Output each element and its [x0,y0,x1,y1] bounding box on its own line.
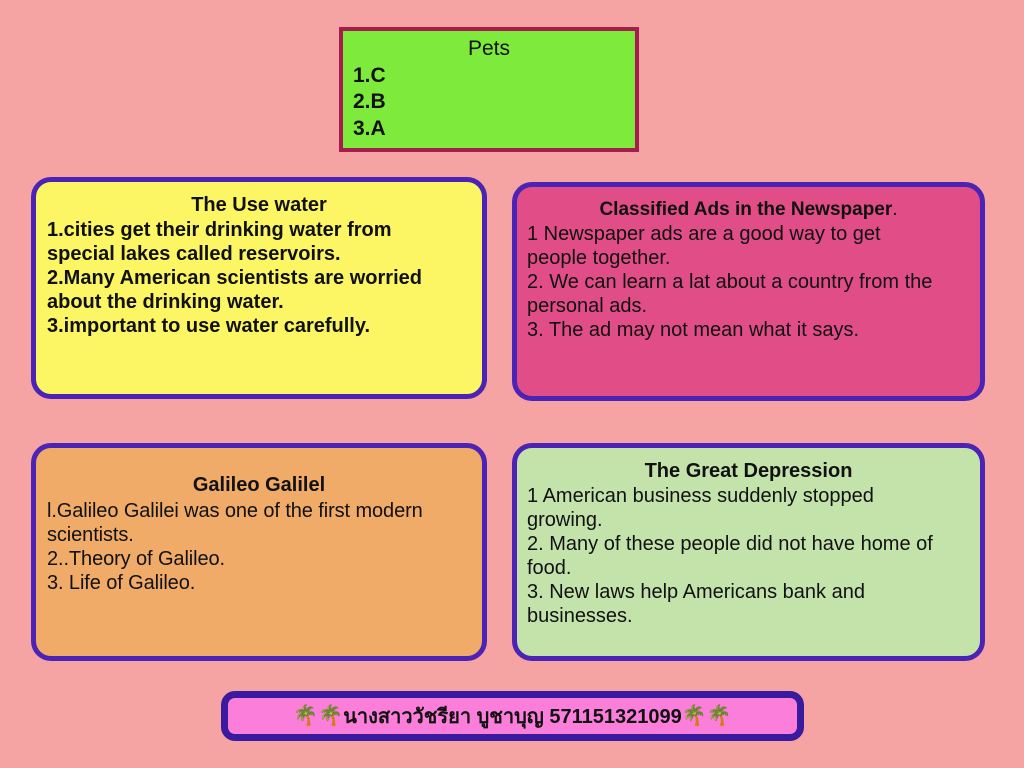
card-use-water-title: The Use water [47,194,471,217]
card-galileo-line-1: l.Galileo Galilei was one of the first m… [47,499,471,523]
card-pets-line-1: 1.C [353,63,625,88]
card-use-water-line-4: about the drinking water. [47,290,471,314]
card-galileo-line-3: 2..Theory of Galileo. [47,547,471,571]
card-classified-ads-line-2: people together. [527,246,970,270]
card-great-depression-line-4: food. [527,556,970,580]
card-classified-ads-line-3: 2. We can learn a lat about a country fr… [527,270,970,294]
card-classified-ads-title: Classified Ads in the Newspaper. [527,199,970,221]
card-classified-ads-line-1: 1 Newspaper ads are a good way to get [527,222,970,246]
card-use-water-line-1: 1.cities get their drinking water from [47,218,471,242]
card-pets-title: Pets [353,37,625,61]
card-great-depression-line-2: growing. [527,508,970,532]
card-galileo-title: Galileo Galilel [47,474,471,497]
card-great-depression-line-5: 3. New laws help Americans bank and [527,580,970,604]
card-use-water-line-3: 2.Many American scientists are worried [47,266,471,290]
slide-canvas: Pets 1.C 2.B 3.A The Use water 1.cities … [0,0,1024,768]
card-great-depression-line-1: 1 American business suddenly stopped [527,484,970,508]
card-great-depression-title: The Great Depression [527,460,970,483]
card-use-water-line-5: 3.important to use water carefully. [47,314,471,338]
card-classified-ads-title-text: Classified Ads in the Newspaper [599,199,892,220]
card-classified-ads-line-4: personal ads. [527,294,970,318]
card-great-depression: The Great Depression 1 American business… [512,443,985,661]
card-pets: Pets 1.C 2.B 3.A [339,27,639,152]
card-classified-ads-title-period: . [892,199,897,220]
footer-banner: 🌴🌴นางสาววัชรียา บูชาบุญ 571151321099🌴🌴 [221,691,804,741]
palm-tree-icon-left: 🌴🌴 [293,706,343,726]
card-pets-line-2: 2.B [353,89,625,114]
card-pets-line-3: 3.A [353,116,625,141]
card-classified-ads-line-5: 3. The ad may not mean what it says. [527,318,970,342]
card-use-water-line-2: special lakes called reservoirs. [47,242,471,266]
card-classified-ads: Classified Ads in the Newspaper. 1 Newsp… [512,182,985,401]
card-great-depression-line-6: businesses. [527,604,970,628]
footer-author-text: นางสาววัชรียา บูชาบุญ 571151321099 [343,700,682,732]
card-great-depression-line-3: 2. Many of these people did not have hom… [527,532,970,556]
card-galileo-line-2: scientists. [47,523,471,547]
card-galileo: Galileo Galilel l.Galileo Galilei was on… [31,443,487,661]
card-galileo-line-4: 3. Life of Galileo. [47,571,471,595]
palm-tree-icon-right: 🌴🌴 [682,706,732,726]
card-use-water: The Use water 1.cities get their drinkin… [31,177,487,399]
